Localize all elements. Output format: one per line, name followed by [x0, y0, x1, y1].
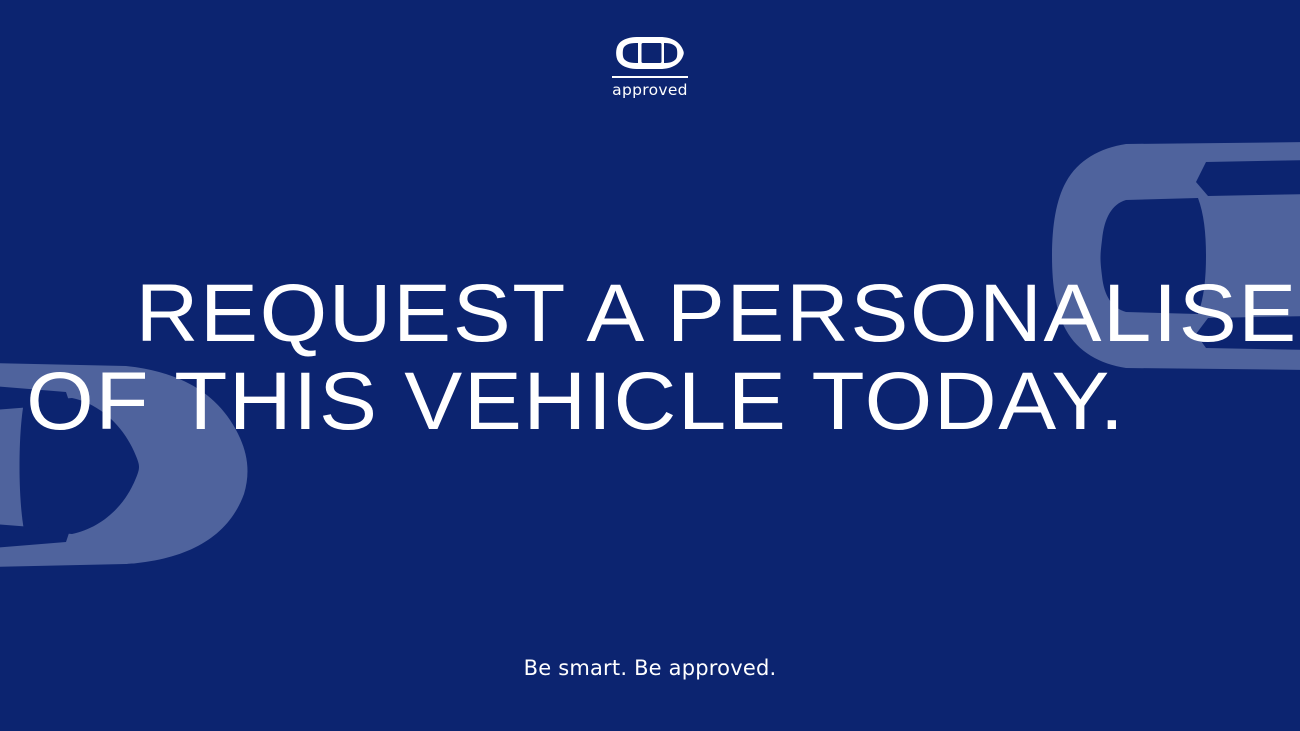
logo-wordmark: approved — [612, 83, 688, 99]
promo-banner: approved REQUEST A PERSONALISED VIDEO OF… — [0, 0, 1300, 731]
tagline: Be smart. Be approved. — [0, 656, 1300, 680]
car-top-view-icon — [614, 36, 686, 70]
headline-line-2: OF THIS VEHICLE TODAY. — [0, 358, 1300, 446]
logo-divider-rule — [612, 76, 688, 78]
brand-logo: approved — [0, 36, 1300, 98]
page-title: REQUEST A PERSONALISED VIDEO OF THIS VEH… — [0, 270, 1300, 446]
headline-line-1: REQUEST A PERSONALISED VIDEO — [0, 270, 1300, 358]
